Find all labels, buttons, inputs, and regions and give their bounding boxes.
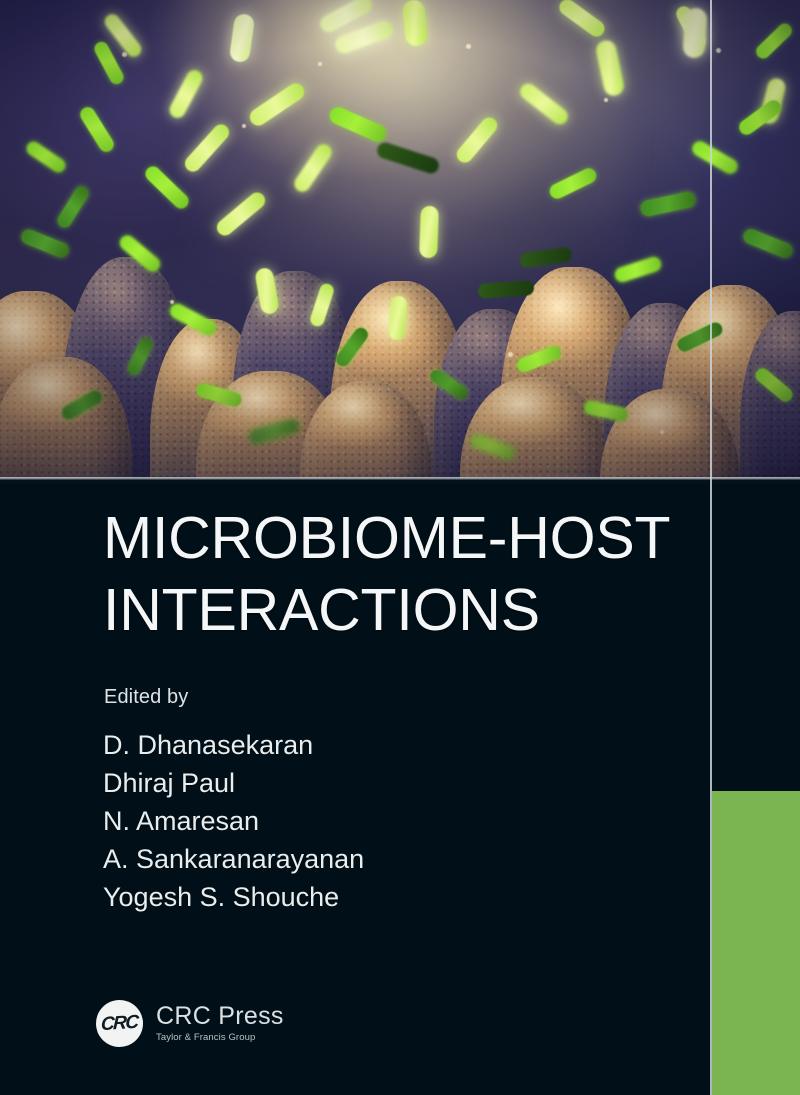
crc-monogram: CRC bbox=[101, 1011, 138, 1035]
book-title: MICROBIOME-HOST INTERACTIONS bbox=[103, 502, 693, 646]
particle bbox=[122, 52, 127, 57]
title-line-1: MICROBIOME-HOST bbox=[103, 502, 693, 574]
editor-name: N. Amaresan bbox=[103, 802, 663, 840]
editor-name: Dhiraj Paul bbox=[103, 764, 663, 802]
particle bbox=[242, 124, 246, 128]
editor-list: D. Dhanasekaran Dhiraj Paul N. Amaresan … bbox=[103, 726, 663, 916]
green-accent-block bbox=[712, 791, 800, 1095]
cover-artwork bbox=[0, 0, 800, 479]
particle bbox=[508, 352, 513, 357]
horizontal-rule-shadow bbox=[0, 480, 800, 484]
bacterium bbox=[419, 206, 439, 259]
editor-name: D. Dhanasekaran bbox=[103, 726, 663, 764]
editor-name: A. Sankaranarayanan bbox=[103, 840, 663, 878]
publisher-imprint: Taylor & Francis Group bbox=[156, 1031, 284, 1044]
bacterium bbox=[388, 295, 407, 340]
particle bbox=[604, 98, 608, 102]
bacterium bbox=[402, 0, 429, 47]
vertical-rule bbox=[710, 0, 712, 1095]
book-cover: MICROBIOME-HOST INTERACTIONS Edited by D… bbox=[0, 0, 800, 1095]
crc-press-roundel-icon: CRC bbox=[96, 1000, 143, 1047]
particle bbox=[716, 48, 721, 53]
publisher-logo: CRC CRC Press Taylor & Francis Group bbox=[96, 1000, 284, 1047]
publisher-text: CRC Press Taylor & Francis Group bbox=[156, 1003, 284, 1044]
bacterium bbox=[682, 7, 707, 58]
edited-by-label: Edited by bbox=[104, 686, 188, 709]
particle bbox=[318, 62, 322, 66]
particle bbox=[170, 300, 174, 304]
title-line-2: INTERACTIONS bbox=[103, 574, 693, 646]
particle bbox=[466, 44, 471, 49]
editor-name: Yogesh S. Shouche bbox=[103, 878, 663, 916]
particle bbox=[660, 430, 664, 434]
publisher-name: CRC Press bbox=[156, 1003, 284, 1030]
